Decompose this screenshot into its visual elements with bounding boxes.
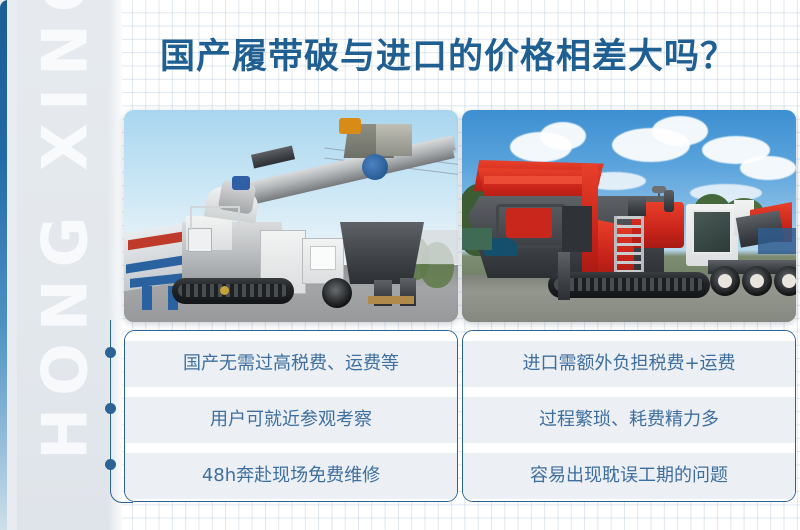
cloud: [740, 156, 796, 180]
exhaust-pipe: [664, 190, 674, 212]
dark-panel: [562, 206, 592, 252]
domestic-crawler-crusher-photo: [124, 110, 458, 322]
comparison-label-column: 成本售价 参观考察 售后维修: [0, 330, 124, 510]
safety-railing: [190, 206, 240, 230]
crawler-track-treads: [554, 278, 704, 291]
motor: [232, 176, 250, 190]
wheel: [322, 278, 352, 308]
domestic-row-visit: 用户可就近参观考察: [125, 397, 457, 443]
hydraulic-cylinder: [339, 118, 361, 134]
track-hub: [220, 286, 229, 295]
row-spacer: [463, 331, 795, 341]
trailer-wheel: [742, 266, 772, 296]
connector-dot: [105, 403, 116, 414]
domestic-comparison-panel: 国产无需过高税费、运费等 用户可就近参观考察 48h奔赴现场免费维修: [124, 330, 458, 502]
connector-vertical-line: [110, 320, 111, 480]
imported-crawler-crusher-photo: [462, 110, 796, 322]
feed-hopper-chute: [376, 124, 412, 156]
domestic-row-service: 48h奔赴现场免费维修: [125, 453, 457, 499]
imported-comparison-panel: 进口需额外负担税费+运费 过程繁琐、耗费精力多 容易出现耽误工期的问题: [462, 330, 796, 502]
cloud: [540, 122, 586, 150]
control-house-window: [692, 210, 732, 254]
trailer-wheel: [710, 266, 740, 296]
timber-block: [368, 296, 414, 304]
background-equipment: [462, 228, 492, 250]
row-spacer: [125, 331, 457, 341]
poster-root: HONG XING 国产履带破与进口的价格相差大吗？: [0, 0, 800, 530]
hopper-highlight: [484, 176, 590, 184]
domestic-row-cost: 国产无需过高税费、运费等: [125, 341, 457, 387]
row-spacer: [463, 443, 795, 453]
connector-dot: [105, 459, 116, 470]
exhaust-stack: [628, 196, 646, 216]
crawler-track-treads: [178, 284, 288, 297]
wheel-hub: [750, 274, 764, 288]
support-leg: [558, 252, 570, 300]
connector-dot: [105, 347, 116, 358]
page-title: 国产履带破与进口的价格相差大吗？: [160, 32, 780, 82]
imported-row-service: 容易出现耽误工期的问题: [463, 453, 795, 499]
cabinet-label: [310, 246, 336, 270]
row-spacer: [125, 443, 457, 453]
drive-pulley: [362, 154, 388, 180]
background-machinery-leg: [142, 286, 152, 310]
side-panel-window: [188, 228, 212, 252]
imported-row-cost: 进口需额外负担税费+运费: [463, 341, 795, 387]
trailer-wheel: [774, 266, 796, 296]
row-spacer: [463, 387, 795, 397]
access-ladder: [614, 216, 644, 280]
imported-row-visit: 过程繁琐、耗费精力多: [463, 397, 795, 443]
wheel-hub: [782, 274, 796, 288]
discharge-chute: [340, 222, 424, 284]
row-spacer: [125, 387, 457, 397]
background-equipment: [758, 228, 796, 254]
cloud: [652, 116, 708, 146]
wheel-hub: [718, 274, 732, 288]
